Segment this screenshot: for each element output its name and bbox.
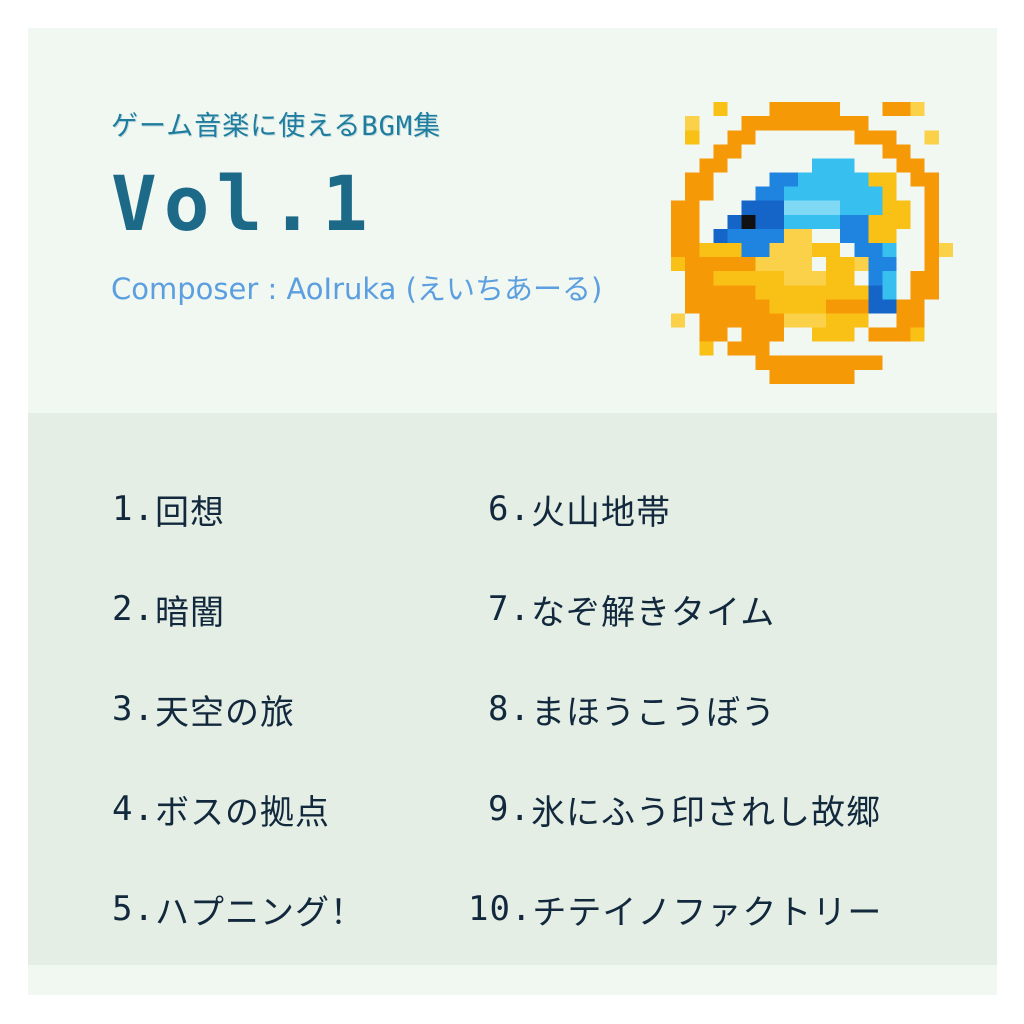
track-item[interactable]: 4. ボスの拠点 — [112, 759, 492, 859]
composer-credit: Composer : AoIruka (えいちあーる) — [111, 272, 671, 307]
track-item[interactable]: 3. 天空の旅 — [112, 659, 492, 759]
track-title: 氷にふう印されし故郷 — [531, 785, 881, 834]
track-number: 5. — [112, 889, 155, 929]
track-number: 10. — [468, 889, 532, 929]
track-item[interactable]: 9. 氷にふう印されし故郷 — [468, 759, 988, 859]
series-subtitle: ゲーム音楽に使えるBGM集 — [111, 113, 671, 140]
tracklist-column-right: 6. 火山地帯 7. なぞ解きタイム 8. まほうこうぼう 9. 氷にふう印され… — [468, 459, 988, 959]
track-title: ハプニング！ — [155, 885, 365, 934]
track-title: ボスの拠点 — [155, 785, 330, 834]
track-item[interactable]: 1. 回想 — [112, 459, 492, 559]
album-footer-band — [28, 965, 997, 995]
track-number: 8. — [488, 689, 531, 729]
track-number: 7. — [488, 589, 531, 629]
track-item[interactable]: 5. ハプニング！ — [112, 859, 492, 959]
track-item[interactable]: 7. なぞ解きタイム — [468, 559, 988, 659]
track-title: まほうこうぼう — [531, 685, 776, 734]
volume-title: Vol.1 — [111, 166, 671, 242]
track-title: 天空の旅 — [155, 685, 295, 734]
track-number: 2. — [112, 589, 155, 629]
track-item[interactable]: 6. 火山地帯 — [468, 459, 988, 559]
track-title: 暗闇 — [155, 585, 225, 634]
album-cover-page: ゲーム音楽に使えるBGM集 Vol.1 Composer : AoIruka (… — [0, 0, 1024, 1024]
track-number: 1. — [112, 489, 155, 529]
track-number: 9. — [488, 789, 531, 829]
track-title: なぞ解きタイム — [531, 585, 775, 634]
track-item[interactable]: 8. まほうこうぼう — [468, 659, 988, 759]
tracklist-column-left: 1. 回想 2. 暗闇 3. 天空の旅 4. ボスの拠点 — [112, 459, 492, 959]
track-title: 回想 — [155, 485, 225, 534]
album-header-text-block: ゲーム音楽に使えるBGM集 Vol.1 Composer : AoIruka (… — [111, 113, 671, 307]
pixel-dolphin-sun-logo — [657, 88, 967, 398]
track-number: 3. — [112, 689, 155, 729]
track-title: 火山地帯 — [531, 485, 671, 534]
album-header-band: ゲーム音楽に使えるBGM集 Vol.1 Composer : AoIruka (… — [28, 28, 997, 413]
track-number: 6. — [488, 489, 531, 529]
track-title: チテイノファクトリー — [532, 885, 882, 934]
track-item[interactable]: 10. チテイノファクトリー — [468, 859, 988, 959]
tracklist-columns: 1. 回想 2. 暗闇 3. 天空の旅 4. ボスの拠点 — [28, 413, 997, 965]
tracklist-panel: 1. 回想 2. 暗闇 3. 天空の旅 4. ボスの拠点 — [28, 413, 997, 965]
album-card: ゲーム音楽に使えるBGM集 Vol.1 Composer : AoIruka (… — [28, 28, 997, 995]
pixel-dolphin-sun-icon — [657, 88, 967, 398]
track-number: 4. — [112, 789, 155, 829]
track-item[interactable]: 2. 暗闇 — [112, 559, 492, 659]
